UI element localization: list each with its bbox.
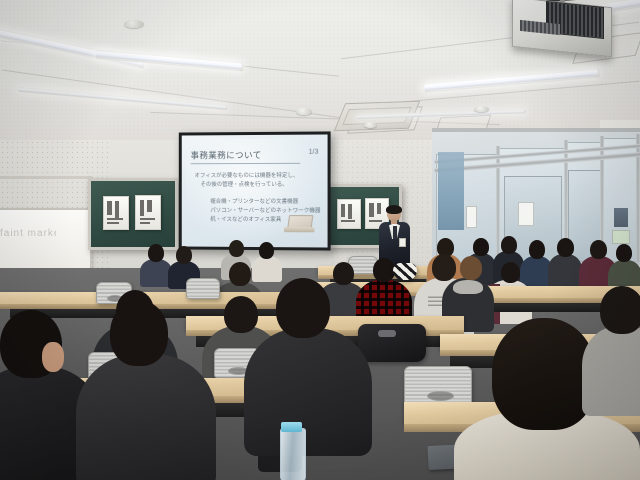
slide-bullet-1: オフィスが必要なものには機器を特定し、 [195, 171, 299, 179]
slide-laptop-illustration [284, 215, 314, 235]
chalkboard-poster-1 [103, 196, 129, 230]
corridor-notice-1 [518, 202, 534, 226]
presenter-hair [386, 205, 402, 214]
tote-bag-printed[interactable] [393, 263, 417, 280]
backpack-strap [378, 330, 396, 337]
corridor-notice-3 [612, 230, 630, 244]
water-bottle-front[interactable] [280, 428, 306, 480]
presenter-tie [393, 226, 397, 239]
slide-bullet-5: 机・イスなどのオフィス家具 [210, 215, 281, 223]
slide-title-underline [191, 163, 301, 164]
smoke-detector-3 [474, 106, 489, 112]
chalkboard-left [88, 178, 178, 250]
classroom-scene: faint marker writing [0, 0, 640, 480]
chair-empty-3[interactable] [186, 278, 220, 299]
wall-trim [0, 176, 92, 179]
corridor-notice-2 [466, 206, 477, 228]
smoke-detector-1 [124, 20, 144, 28]
slide-title: 事務業務について [191, 149, 262, 161]
corridor-poster [614, 208, 628, 227]
chalkboard-poster-3 [337, 199, 361, 229]
presentation-slide: 事務業務について 1/3 オフィスが必要なものには機器を特定し、 その後の管理・… [189, 143, 321, 240]
slide-bullet-3: 複合機・プリンターなどの文書機器 [210, 197, 298, 205]
presenter-name-badge [399, 238, 406, 247]
water-bottle-front-cap [281, 422, 302, 432]
corridor-window [438, 152, 464, 230]
smoke-detector-2 [296, 108, 312, 115]
smoke-detector-4 [364, 122, 377, 128]
slide-page-indicator: 1/3 [309, 149, 319, 156]
desk-row-4 [0, 292, 316, 304]
projection-screen: 事務業務について 1/3 オフィスが必要なものには機器を特定し、 その後の管理・… [179, 131, 331, 250]
partition-head-rail [432, 128, 640, 132]
screen-surface: 事務業務について 1/3 オフィスが必要なものには機器を特定し、 その後の管理・… [182, 134, 328, 247]
slide-bullet-4: パソコン・サーバーなどのネットワーク機器 [210, 206, 320, 214]
whiteboard-writing: faint marker writing [0, 228, 56, 240]
slide-bullet-2: その後の管理・点検を行っている。 [200, 180, 287, 188]
chalkboard-poster-2 [135, 195, 161, 230]
